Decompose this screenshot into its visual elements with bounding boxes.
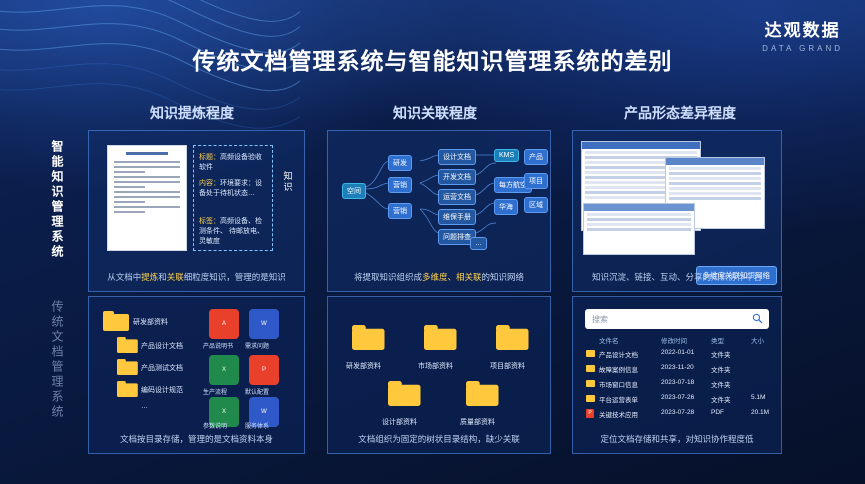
folder-icon-coding-spec[interactable]: [117, 381, 138, 397]
file-icon-production-flow[interactable]: X: [209, 355, 239, 385]
knowledge-label: 知识: [280, 171, 296, 193]
node-kms[interactable]: KMS: [494, 149, 519, 162]
file-label-product-manual: 产品说明书: [203, 341, 233, 350]
folder-icon: [586, 380, 595, 387]
file-glyph-1: W: [261, 321, 267, 327]
folder-icon-market[interactable]: [424, 325, 457, 350]
smart-panel-knowledge-extraction: 标题：高频设备验收软件 内容：环境要求：设备处于待机状态… 标签：高频设备、检测…: [88, 130, 305, 292]
folder-label-design: 设计部资料: [382, 417, 417, 427]
traditional-panel-folders: 研发部资料 产品设计文档 产品测试文档 编码设计规范 … A 产品说明书 W 需…: [88, 296, 305, 454]
side-label-smart: 智能知识管理系统: [49, 140, 66, 260]
cell-type: 文件夹: [711, 394, 731, 404]
panel3-caption: 知识沉淀、链接、互动、分享的知识协作平台: [573, 271, 781, 283]
page-title: 传统文档管理系统与智能知识管理系统的差别: [0, 42, 865, 76]
folder-label-market: 市场部资料: [418, 361, 453, 371]
cell-type: 文件夹: [711, 379, 731, 389]
cell-filename: 市场窗口信息: [599, 379, 638, 389]
field-title-key: 标题：: [199, 154, 220, 161]
cell-filename: 故障案例信息: [599, 364, 638, 374]
folder-icon-product-design[interactable]: [117, 337, 138, 353]
traditional-panel-tree: 研发部资料 市场部资料 项目部资料 设计部资料 质量部资料 文档组织为固定的树状…: [327, 296, 551, 454]
cell-size: 20.1M: [751, 409, 769, 416]
cell-filename: 产品设计文档: [599, 349, 638, 359]
app-screenshot-cards: [583, 203, 695, 255]
caption-seg-2: 提炼: [141, 272, 158, 282]
cell-modified: 2023-07-26: [661, 394, 694, 401]
th-filename: 文件名: [599, 335, 619, 345]
caption2-seg-3: 的知识网络: [482, 272, 525, 282]
node-space[interactable]: 空间: [342, 183, 366, 199]
node-design-doc[interactable]: 设计文档: [438, 149, 476, 165]
th-type: 类型: [711, 335, 724, 345]
caption-seg-5: 细粒度知识，管理的是知识: [184, 272, 286, 282]
bottom-panel3-caption: 定位文档存储和共享，对知识协作程度低: [573, 433, 781, 445]
traditional-panel-file-list: 搜索 文件名 修改时间 类型 大小 产品设计文档 2022-01-01 文件夹 …: [572, 296, 782, 454]
bottom-panel1-caption: 文档按目录存储，管理的是文档资料本身: [89, 433, 304, 445]
node-huahai[interactable]: 华海: [494, 199, 518, 215]
slide: 达观数据 DATA GRAND 传统文档管理系统与智能知识管理系统的差别 智能知…: [0, 0, 865, 484]
smart-panel-product-form: 多维度关联知识网络 知识沉淀、链接、互动、分享的知识协作平台: [572, 130, 782, 292]
field-content-key: 内容：: [199, 180, 220, 187]
folder-label-project: 项目部资料: [490, 361, 525, 371]
cell-type: 文件夹: [711, 349, 731, 359]
folder-label-rd-2: 研发部资料: [346, 361, 381, 371]
search-placeholder: 搜索: [592, 314, 608, 325]
file-icon-default-config[interactable]: P: [249, 355, 279, 385]
caption-seg-1: 从文档中: [107, 272, 141, 282]
folder-icon: [586, 395, 595, 402]
bottom-panel2-caption: 文档组织为固定的树状目录结构，缺少关联: [328, 433, 550, 445]
file-label-service-system: 服务体系: [245, 421, 269, 430]
folder-icon-quality[interactable]: [466, 381, 499, 406]
caption-seg-4: 关联: [167, 272, 184, 282]
file-glyph-0: A: [222, 321, 226, 327]
search-icon[interactable]: [752, 313, 763, 324]
file-icon-product-manual[interactable]: A: [209, 309, 239, 339]
file-label-default-config: 默认配置: [245, 387, 269, 396]
node-maintenance-manual[interactable]: 维保手册: [438, 209, 476, 225]
file-icon-requirements[interactable]: W: [249, 309, 279, 339]
cell-modified: 2023-11-20: [661, 364, 694, 371]
cell-modified: 2022-01-01: [661, 349, 694, 356]
panel2-caption: 将提取知识组织成多维度、相关联的知识网络: [328, 271, 550, 283]
cell-size: 5.1M: [751, 394, 765, 401]
file-glyph-4: X: [222, 409, 226, 415]
column-header-3: 产品形态差异程度: [575, 103, 785, 123]
node-region[interactable]: 区域: [524, 197, 548, 213]
folder-icon: [586, 365, 595, 372]
cell-modified: 2023-07-28: [661, 409, 694, 416]
document-preview: [107, 145, 187, 251]
node-dev-doc[interactable]: 开发文档: [438, 169, 476, 185]
folder-icon-product-test[interactable]: [117, 359, 138, 375]
file-glyph-5: W: [261, 409, 267, 415]
cell-modified: 2023-07-18: [661, 379, 694, 386]
pdf-icon: P: [586, 409, 594, 418]
field-tags-key: 标签：: [199, 218, 220, 225]
caption2-seg-1: 将提取知识组织成: [354, 272, 422, 282]
node-project[interactable]: 项目: [524, 173, 548, 189]
field-tags: 标签：高频设备、检测条件、 待邮放电、灵敏度: [199, 217, 265, 247]
node-ops-doc[interactable]: 运营文档: [438, 189, 476, 205]
file-label-production-flow: 生产流程: [203, 387, 227, 396]
node-rd[interactable]: 研发: [388, 155, 412, 171]
folder-icon-rd-2[interactable]: [352, 325, 385, 350]
folder-label-product-test: 产品测试文档: [141, 363, 183, 373]
file-glyph-3: P: [262, 367, 266, 373]
side-label-traditional: 传统文档管理系统: [49, 300, 66, 420]
th-modified: 修改时间: [661, 335, 687, 345]
th-size: 大小: [751, 335, 764, 345]
node-product[interactable]: 产品: [524, 149, 548, 165]
cell-type: PDF: [711, 409, 724, 416]
cell-filename: 关键技术应用: [599, 409, 638, 419]
folder-label-more: …: [141, 403, 148, 410]
cell-filename: 平台运营表单: [599, 394, 638, 404]
folder-icon-project[interactable]: [496, 325, 529, 350]
column-header-1: 知识提炼程度: [87, 103, 297, 123]
node-marketing-1[interactable]: 营销: [388, 177, 412, 193]
panel1-caption: 从文档中提炼和关联细粒度知识，管理的是知识: [89, 271, 304, 283]
folder-icon-rd[interactable]: [103, 311, 129, 331]
node-marketing-2[interactable]: 营销: [388, 203, 412, 219]
caption-seg-3: 和: [158, 272, 167, 282]
column-header-2: 知识关联程度: [330, 103, 540, 123]
node-more[interactable]: …: [470, 237, 487, 250]
folder-icon-design[interactable]: [388, 381, 421, 406]
smart-panel-knowledge-graph: 空间 研发 营销 营销 设计文档 开发文档 运营文档 维保手册 问题排查 KMS…: [327, 130, 551, 292]
file-label-requirements: 需求问题: [245, 341, 269, 350]
folder-label-coding-spec: 编码设计规范: [141, 385, 183, 395]
logo-cn: 达观数据: [762, 16, 843, 41]
search-input[interactable]: 搜索: [585, 309, 769, 329]
file-label-parameters: 参数说明: [203, 421, 227, 430]
folder-label-rd: 研发部资料: [133, 317, 168, 327]
file-glyph-2: X: [222, 367, 226, 373]
caption2-seg-2: 多维度、相关联: [422, 272, 482, 282]
folder-label-product-design: 产品设计文档: [141, 341, 183, 351]
folder-icon: [586, 350, 595, 357]
field-content: 内容：环境要求：设备处于待机状态…: [199, 179, 265, 199]
cell-type: 文件夹: [711, 364, 731, 374]
folder-label-quality: 质量部资料: [460, 417, 495, 427]
field-title: 标题：高频设备验收软件: [199, 153, 265, 173]
